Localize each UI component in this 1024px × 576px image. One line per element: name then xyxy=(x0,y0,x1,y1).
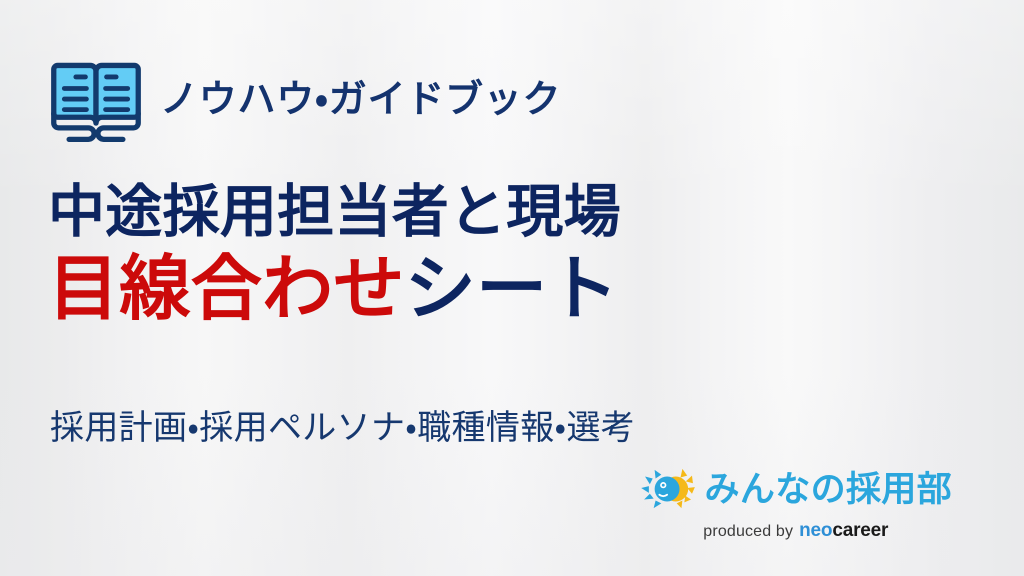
brand-lockup: みんなの採用部 xyxy=(640,466,952,512)
headline-block: 中途採用担当者と現場 目線合わせシート xyxy=(48,182,621,329)
headline-line-1: 中途採用担当者と現場 xyxy=(48,182,621,244)
produced-by-line: produced by neocareer xyxy=(703,521,888,540)
headline-line-2: 目線合わせシート xyxy=(48,250,621,330)
title-slide: ノウハウ・ガイドブック 中途採用担当者と現場 目線合わせシート 採用計画・採用ペ… xyxy=(0,0,1024,576)
produced-by-label: produced by xyxy=(703,524,793,540)
company-name-neo: neo xyxy=(799,520,832,541)
subtitle: 採用計画・採用ペルソナ・職種情報・選考 xyxy=(50,400,635,449)
open-book-icon xyxy=(48,52,144,148)
sun-fish-logo-mark xyxy=(640,466,698,512)
headline-emphasis-red: 目線合わせ xyxy=(48,250,405,329)
company-name-career: career xyxy=(832,520,888,541)
eyebrow-label: ノウハウ・ガイドブック xyxy=(160,81,561,119)
brand-cluster: みんなの採用部 produced by neocareer xyxy=(640,466,952,540)
headline-emphasis-navy: シート xyxy=(405,250,619,329)
eyebrow-row: ノウハウ・ガイドブック xyxy=(48,52,561,148)
company-name: neocareer xyxy=(799,521,888,540)
brand-name: みんなの採用部 xyxy=(705,472,952,507)
